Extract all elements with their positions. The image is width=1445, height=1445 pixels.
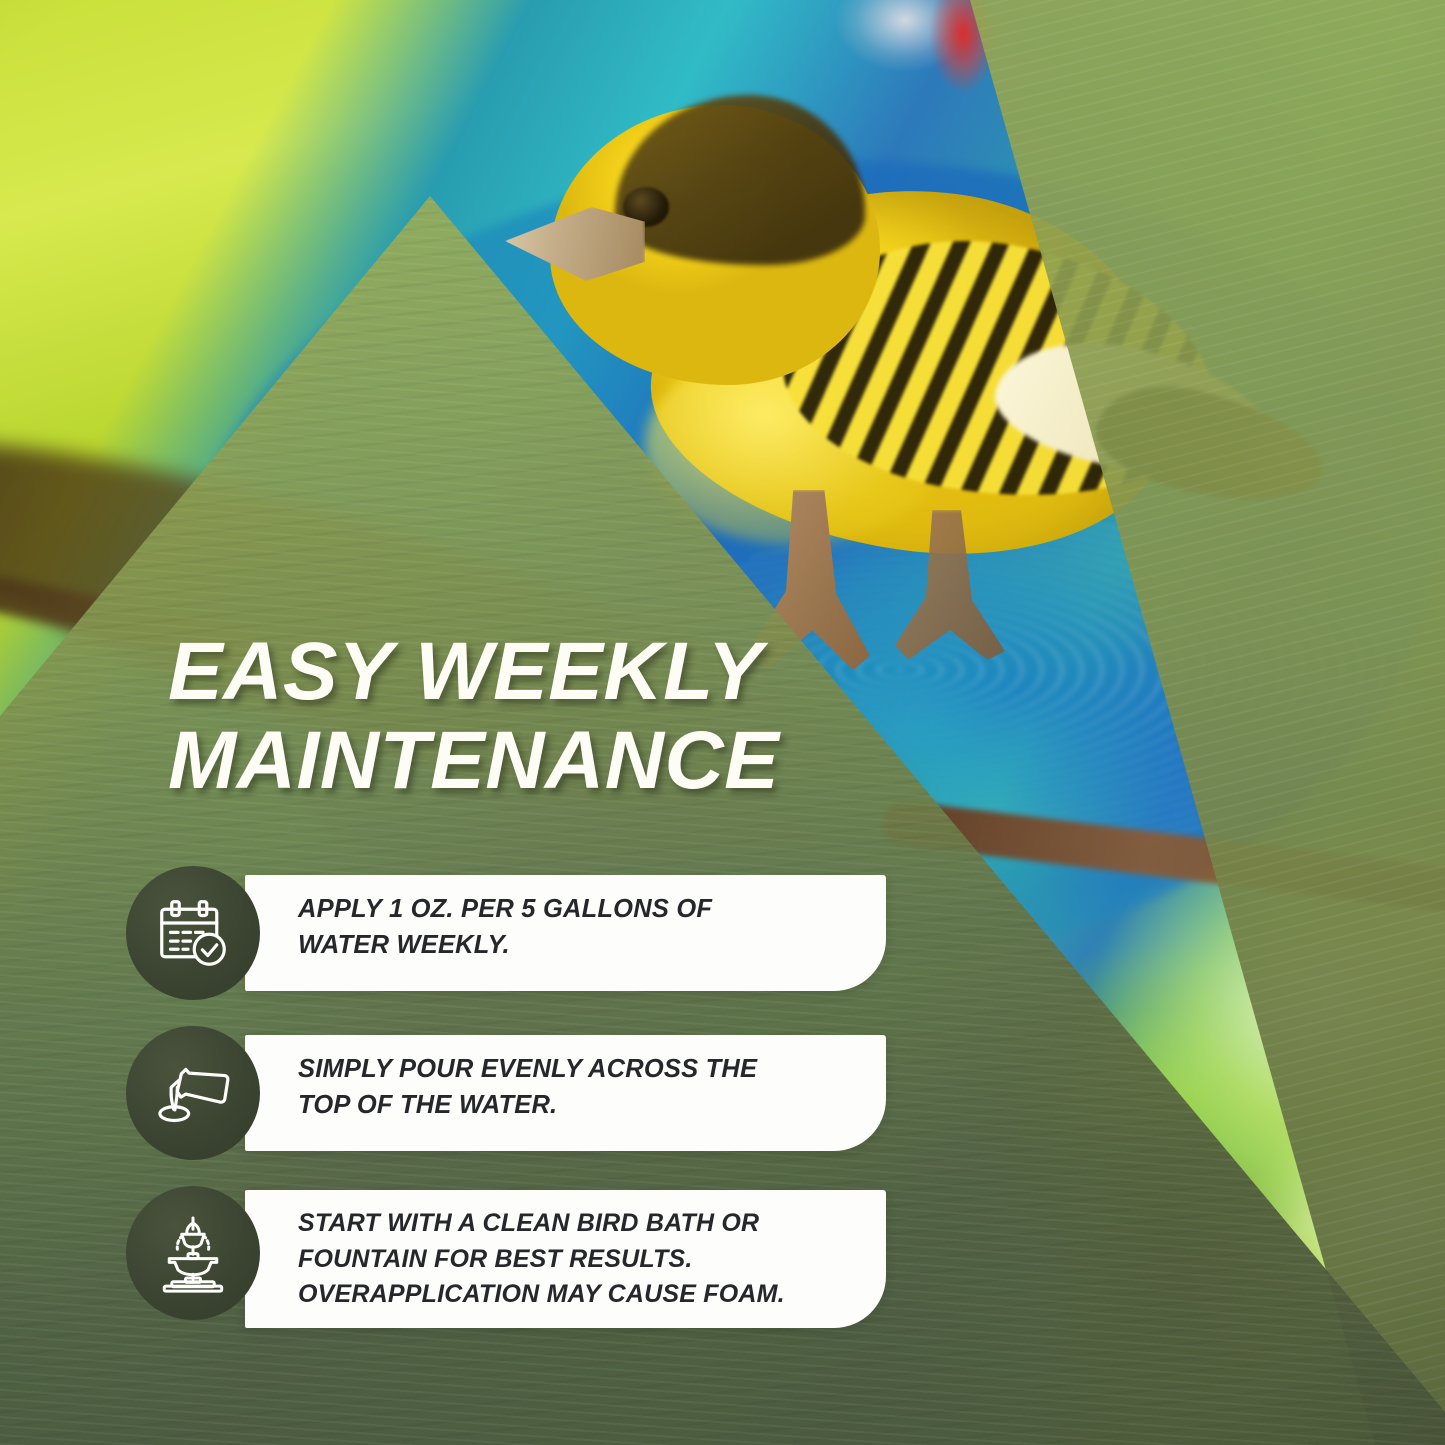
instruction-step-3: START WITH A CLEAN BIRD BATH OR FOUNTAIN… xyxy=(126,1186,886,1332)
instruction-step-1: APPLY 1 OZ. PER 5 GALLONS OF WATER WEEKL… xyxy=(126,866,886,988)
pouring-bottle-icon xyxy=(126,1026,260,1160)
content-layer: EASY WEEKLY MAINTENANCE xyxy=(0,0,1445,1445)
page-title-line-2: MAINTENANCE xyxy=(168,717,888,806)
instruction-list: APPLY 1 OZ. PER 5 GALLONS OF WATER WEEKL… xyxy=(126,866,886,1332)
instruction-text-1: APPLY 1 OZ. PER 5 GALLONS OF WATER WEEKL… xyxy=(298,891,768,963)
page-title-line-1: EASY WEEKLY xyxy=(168,626,763,717)
page-title: EASY WEEKLY MAINTENANCE xyxy=(168,628,888,805)
instruction-step-2: SIMPLY POUR EVENLY ACROSS THE TOP OF THE… xyxy=(126,1026,886,1148)
instruction-text-3: START WITH A CLEAN BIRD BATH OR FOUNTAIN… xyxy=(298,1206,798,1313)
instruction-text-2: SIMPLY POUR EVENLY ACROSS THE TOP OF THE… xyxy=(298,1051,768,1123)
fountain-icon xyxy=(126,1186,260,1320)
calendar-check-icon xyxy=(126,866,260,1000)
product-infographic: EASY WEEKLY MAINTENANCE xyxy=(0,0,1445,1445)
